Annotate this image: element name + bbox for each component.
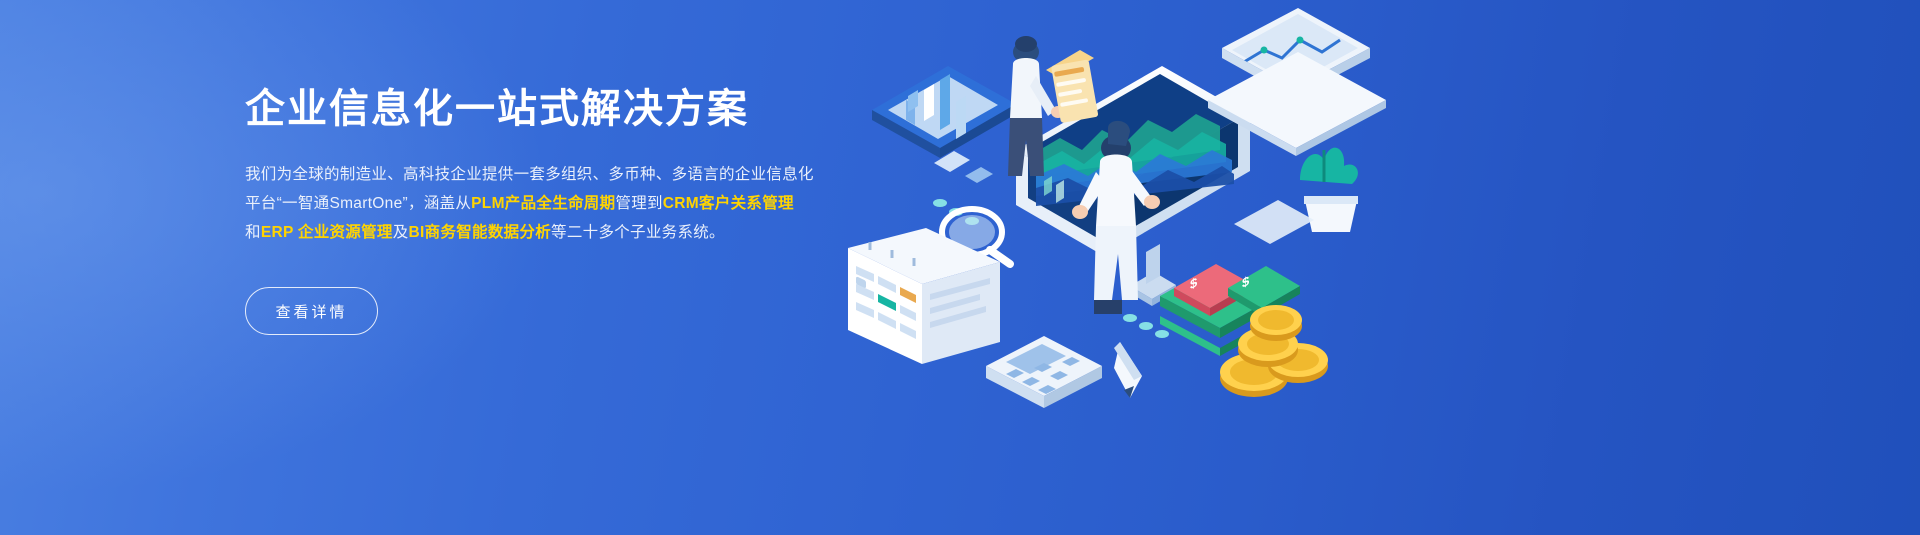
- hero-copy-block: 企业信息化一站式解决方案 我们为全球的制造业、高科技企业提供一套多组织、多币种、…: [245, 84, 865, 335]
- hero-paragraph: 我们为全球的制造业、高科技企业提供一套多组织、多币种、多语言的企业信息化 平台“…: [245, 160, 865, 247]
- paper-sheet: [1234, 200, 1314, 244]
- calculator: [986, 336, 1102, 408]
- paragraph-text: 我们为全球的制造业、高科技企业提供一套多组织、多币种、多语言的企业信息化: [245, 166, 814, 183]
- paragraph-line-2: 平台“一智通SmartOne”，涵盖从PLM产品全生命周期管理到CRM客户关系管…: [245, 189, 865, 218]
- paragraph-line-3: 和ERP 企业资源管理及BI商务智能数据分析等二十多个子业务系统。: [245, 218, 865, 247]
- highlighted-keyword: ERP 企业资源管理: [261, 224, 393, 241]
- paragraph-text: 和: [245, 224, 261, 241]
- paragraph-text: 管理到: [615, 195, 662, 212]
- highlighted-keyword: CRM客户关系管理: [663, 195, 794, 212]
- page-title: 企业信息化一站式解决方案: [245, 84, 865, 134]
- hero-banner: 企业信息化一站式解决方案 我们为全球的制造业、高科技企业提供一套多组织、多币种、…: [0, 0, 1920, 535]
- paragraph-text: 等二十多个子业务系统。: [551, 224, 725, 241]
- hero-illustration: $ $: [830, 0, 1450, 535]
- pen: [1114, 342, 1142, 398]
- highlighted-keyword: BI商务智能数据分析: [409, 224, 552, 241]
- view-details-button[interactable]: 查看详情: [245, 287, 378, 335]
- paragraph-text: 及: [393, 224, 409, 241]
- paragraph-line-1: 我们为全球的制造业、高科技企业提供一套多组织、多币种、多语言的企业信息化: [245, 160, 865, 189]
- highlighted-keyword: PLM产品全生命周期: [471, 195, 615, 212]
- smartphone-bar-chart: [872, 66, 1016, 158]
- paragraph-text: 平台“一智通SmartOne”，涵盖从: [245, 195, 471, 212]
